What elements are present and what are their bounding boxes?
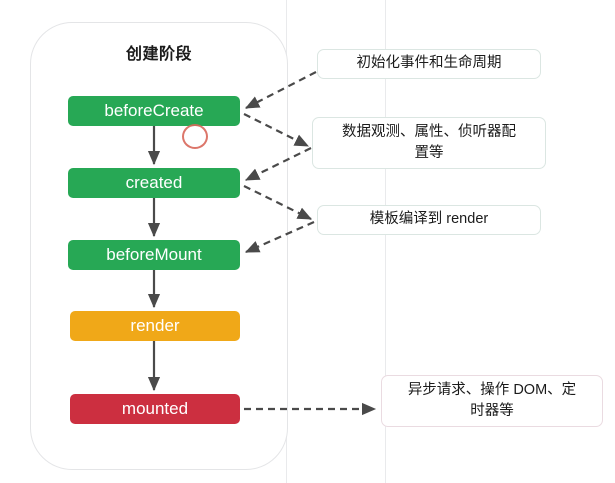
annotation-async-line2: 时器等: [470, 403, 514, 419]
annotation-data-observation: 数据观测、属性、侦听器配 置等: [312, 117, 546, 169]
annotation-data-line1: 数据观测、属性、侦听器配: [342, 124, 516, 140]
page-title: 创建阶段: [30, 40, 288, 64]
lifecycle-node-beforecreate[interactable]: beforeCreate: [68, 96, 240, 126]
lifecycle-node-created[interactable]: created: [68, 168, 240, 198]
lifecycle-node-mounted[interactable]: mounted: [70, 394, 240, 424]
lifecycle-node-beforemount[interactable]: beforeMount: [68, 240, 240, 270]
lifecycle-diagram: 创建阶段 beforeCreate crea: [0, 0, 615, 483]
annotation-template-compile: 模板编译到 render: [317, 205, 541, 235]
annotation-init-events: 初始化事件和生命周期: [317, 49, 541, 79]
annotation-async-requests: 异步请求、操作 DOM、定 时器等: [381, 375, 603, 427]
annotation-async-line1: 异步请求、操作 DOM、定: [408, 382, 576, 398]
lifecycle-node-render[interactable]: render: [70, 311, 240, 341]
highlight-circle-annotation: [182, 124, 208, 149]
annotation-data-line2: 置等: [415, 145, 444, 161]
